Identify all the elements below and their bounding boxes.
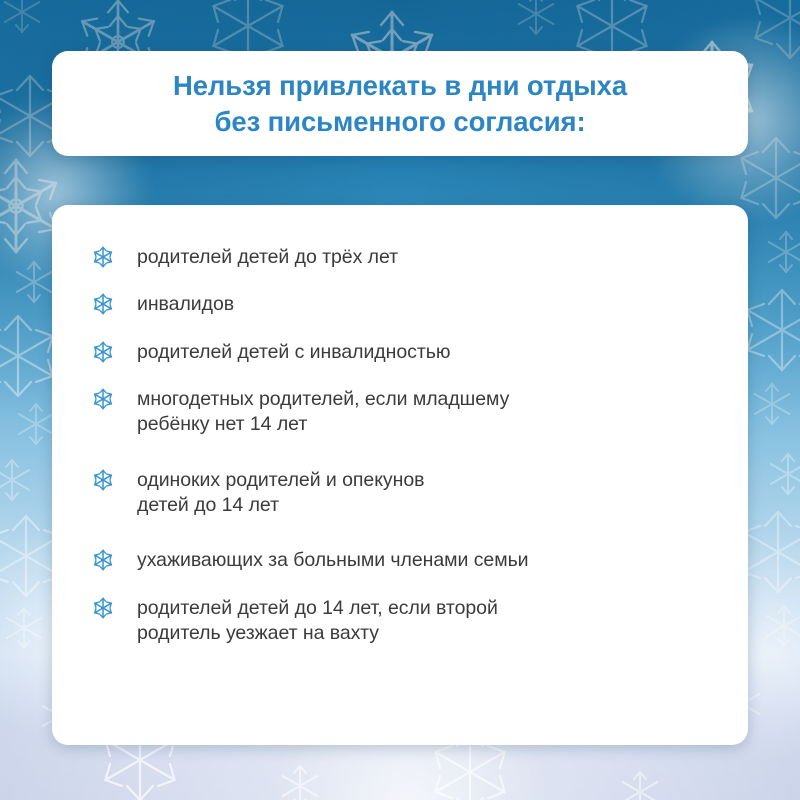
page-title: Нельзя привлекать в дни отдыха без письм… [173, 68, 627, 138]
snowflake-icon [92, 388, 114, 410]
snowflake-icon [92, 341, 114, 363]
list-item-label: одиноких родителей и опекунов детей до 1… [137, 468, 424, 519]
list-item-label: многодетных родителей, если младшему реб… [137, 387, 509, 438]
list-item: одиноких родителей и опекунов детей до 1… [92, 468, 712, 519]
list-item: инвалидов [92, 292, 712, 317]
list-item: родителей детей с инвалидностью [92, 340, 712, 365]
poster-root: Нельзя привлекать в дни отдыха без письм… [0, 0, 800, 800]
list-item: многодетных родителей, если младшему реб… [92, 387, 712, 438]
snowflake-icon [92, 597, 114, 619]
snowflake-icon [92, 246, 114, 268]
exemptions-list-card: родителей детей до трёх лет [52, 205, 748, 745]
snowflake-icon [92, 549, 114, 571]
list-item: родителей детей до 14 лет, если второй р… [92, 596, 712, 647]
list-item-label: родителей детей с инвалидностью [137, 340, 450, 365]
list-item: родителей детей до трёх лет [92, 245, 712, 270]
list-item-label: ухаживающих за больными членами семьи [137, 548, 529, 573]
list-item-label: инвалидов [137, 292, 234, 317]
list-item: ухаживающих за больными членами семьи [92, 548, 712, 573]
list-item-label: родителей детей до трёх лет [137, 245, 398, 270]
list-item-label: родителей детей до 14 лет, если второй р… [137, 596, 498, 647]
title-card: Нельзя привлекать в дни отдыха без письм… [52, 51, 748, 156]
snowflake-icon [92, 293, 114, 315]
snowflake-icon [92, 469, 114, 491]
exemptions-list: родителей детей до трёх лет [52, 205, 748, 646]
